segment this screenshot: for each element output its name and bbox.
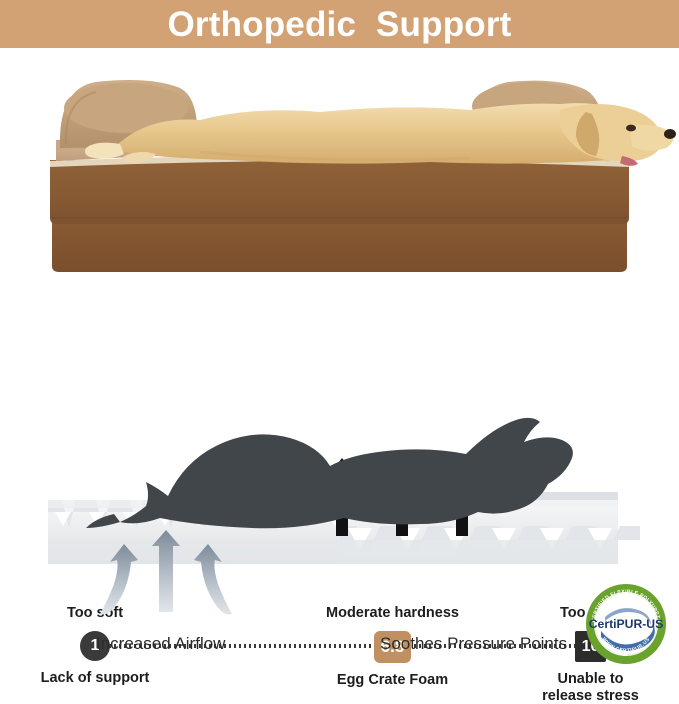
foam-cross-section-diagram [0,400,679,668]
hardness-scale: Too soft 1 Lack of support Moderate hard… [0,300,679,400]
header-banner: Orthopedic Support [0,0,679,48]
product-photo [0,48,679,298]
caption-soothes-pressure-points: Soothes Pressure Points [380,635,567,652]
page-title: Orthopedic Support [167,7,511,42]
scale-marker-too-soft-bottom-label: Lack of support [41,670,150,687]
dog-silhouette [86,418,573,528]
scale-marker-too-hard-bottom-label-line1: Unable to [557,671,623,687]
certipur-us-badge: CONTAINS CERTIFIED FLEXIBLE POLYURETHANE… [585,583,667,665]
dog-bed-illustration [0,48,679,298]
scale-marker-too-hard-bottom-label-line2: release stress [542,688,639,704]
certipur-us-badge-graphic: CONTAINS CERTIFIED FLEXIBLE POLYURETHANE… [585,583,667,665]
scale-marker-moderate-bottom-label: Egg Crate Foam [337,672,448,689]
airflow-arrow-center [152,530,180,612]
badge-wordmark: CertiPUR-US [589,617,664,631]
scale-marker-too-hard-bottom-label: Unable to release stress [542,671,639,704]
caption-increased-airflow: Increased Airflow [96,635,225,652]
foam-diagram-graphic [0,400,679,668]
